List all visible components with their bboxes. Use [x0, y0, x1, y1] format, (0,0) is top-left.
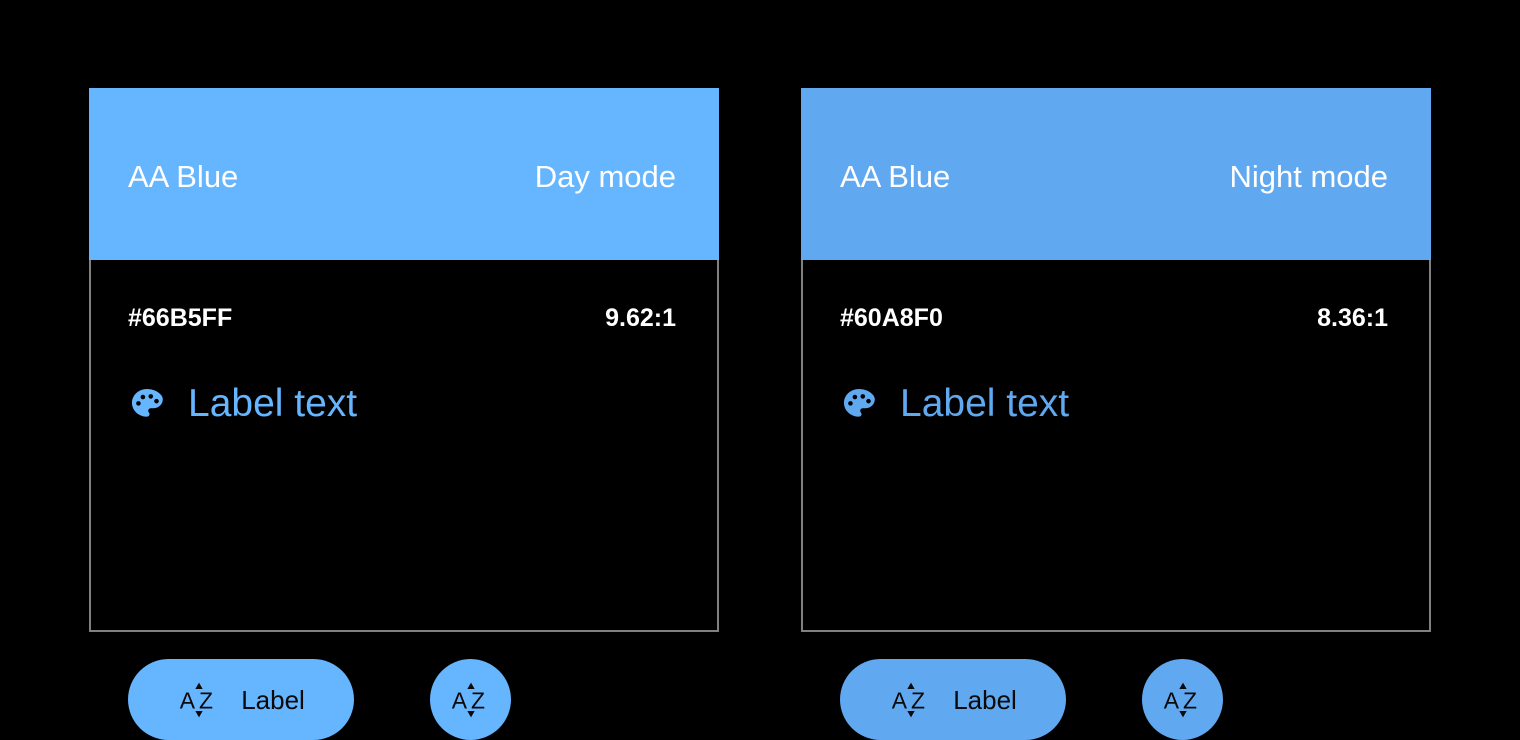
- color-meta-row-night: #60A8F0 8.36:1: [840, 306, 1388, 331]
- sort-alpha-az-icon: A Z: [449, 678, 493, 722]
- sort-button-labeled-night[interactable]: A Z Label: [840, 659, 1066, 740]
- card-header-day: AA Blue Day mode: [89, 88, 719, 260]
- sort-button-label-day: Label: [241, 687, 305, 713]
- color-hex-value-night: #60A8F0: [840, 306, 943, 331]
- card-body-day: #66B5FF 9.62:1 Label text: [89, 260, 719, 632]
- label-text-sample-day: Label text: [188, 384, 357, 423]
- label-sample-row-night: Label text: [840, 384, 1069, 423]
- svg-text:A: A: [451, 687, 467, 713]
- contrast-ratio-value-day: 9.62:1: [605, 306, 676, 331]
- color-hex-value-day: #66B5FF: [128, 306, 232, 331]
- svg-text:Z: Z: [911, 687, 925, 713]
- sort-button-label-night: Label: [953, 687, 1017, 713]
- sort-button-icon-only-night[interactable]: A Z: [1142, 659, 1223, 740]
- label-text-sample-night: Label text: [900, 384, 1069, 423]
- card-title-day: AA Blue: [128, 161, 238, 192]
- svg-text:Z: Z: [1183, 687, 1197, 713]
- label-sample-row-day: Label text: [128, 384, 357, 423]
- sort-button-icon-only-day[interactable]: A Z: [430, 659, 511, 740]
- svg-text:Z: Z: [471, 687, 485, 713]
- contrast-ratio-value-night: 8.36:1: [1317, 306, 1388, 331]
- screen-background: AA Blue Day mode #66B5FF 9.62:1: [0, 0, 1520, 720]
- svg-text:A: A: [1163, 687, 1179, 713]
- palette-icon: [840, 385, 878, 423]
- palette-icon: [128, 385, 166, 423]
- button-row-day: A Z Label A Z: [128, 659, 697, 740]
- color-preview-card-day: AA Blue Day mode #66B5FF 9.62:1: [89, 88, 719, 632]
- color-meta-row-day: #66B5FF 9.62:1: [128, 306, 676, 331]
- card-body-night: #60A8F0 8.36:1 Label text: [801, 260, 1431, 632]
- sort-alpha-az-icon: A Z: [1161, 678, 1205, 722]
- card-mode-label-day: Day mode: [535, 161, 676, 192]
- button-row-night: A Z Label A Z: [840, 659, 1409, 740]
- sort-alpha-az-icon: A Z: [177, 678, 221, 722]
- sort-button-labeled-day[interactable]: A Z Label: [128, 659, 354, 740]
- card-header-night: AA Blue Night mode: [801, 88, 1431, 260]
- svg-text:A: A: [180, 687, 196, 713]
- color-preview-card-night: AA Blue Night mode #60A8F0 8.36:1: [801, 88, 1431, 632]
- svg-text:Z: Z: [199, 687, 213, 713]
- svg-text:A: A: [892, 687, 908, 713]
- card-title-night: AA Blue: [840, 161, 950, 192]
- sort-alpha-az-icon: A Z: [889, 678, 933, 722]
- card-mode-label-night: Night mode: [1229, 161, 1388, 192]
